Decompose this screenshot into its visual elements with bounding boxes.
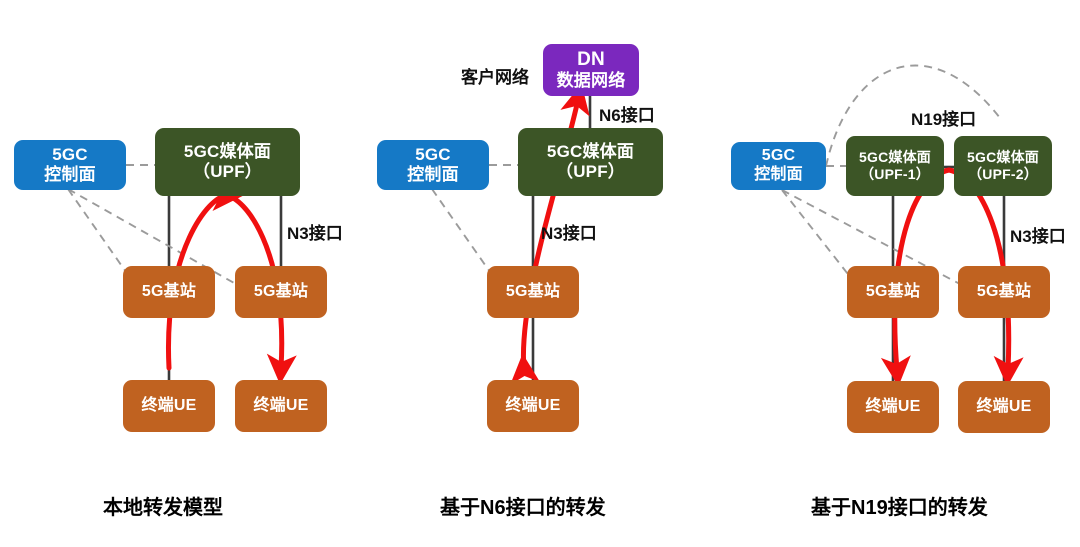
panel2-base-station[interactable]: 5G基站 (487, 266, 579, 318)
node-line-1: 终端UE (865, 398, 920, 417)
panel1-ue-left[interactable]: 终端UE (123, 380, 215, 432)
panel1-base-station-right[interactable]: 5G基站 (235, 266, 327, 318)
node-line-1: 5G基站 (254, 283, 308, 302)
panel1-base-station-left[interactable]: 5G基站 (123, 266, 215, 318)
panel2-ue[interactable]: 终端UE (487, 380, 579, 432)
panel2-customer-network-label: 客户网络 (461, 63, 529, 88)
node-line-1: 终端UE (141, 397, 196, 416)
panel1-control-plane-node[interactable]: 5GC 控制面 (14, 140, 126, 190)
panel2-caption: 基于N6接口的转发 (440, 491, 606, 520)
panel3-control-plane-node[interactable]: 5GC 控制面 (731, 142, 826, 190)
node-line-1: 5GC媒体面 (967, 149, 1039, 166)
panel3-base-station-right[interactable]: 5G基站 (958, 266, 1050, 318)
diagram-canvas: 5GC 控制面 5GC媒体面 （UPF） 5G基站 5G基站 终端UE 终端UE… (0, 0, 1080, 547)
panel3-n3-interface-label: N3接口 (1010, 222, 1066, 247)
node-line-1: 5G基站 (142, 283, 196, 302)
panel2-n3-interface-label: N3接口 (541, 219, 597, 244)
node-line-1: 终端UE (976, 398, 1031, 417)
node-line-1: 5GC (762, 147, 796, 166)
node-line-1: 5G基站 (977, 283, 1031, 302)
panel1-upf-node[interactable]: 5GC媒体面 （UPF） (155, 128, 300, 196)
node-line-1: DN (577, 49, 605, 71)
node-line-2: 控制面 (44, 165, 96, 185)
panel1-caption: 本地转发模型 (103, 491, 223, 520)
panel2-upf-node[interactable]: 5GC媒体面 （UPF） (518, 128, 663, 196)
node-line-2: 控制面 (754, 166, 803, 185)
node-line-1: 5GC媒体面 (184, 142, 271, 162)
node-line-1: 5GC (52, 145, 88, 165)
panel3-base-station-left[interactable]: 5G基站 (847, 266, 939, 318)
panel3-upf-1-node[interactable]: 5GC媒体面 （UPF-1） (846, 136, 944, 196)
panel1-ue-right[interactable]: 终端UE (235, 380, 327, 432)
node-line-2: 控制面 (407, 165, 459, 185)
panel1-n3-interface-label: N3接口 (287, 219, 343, 244)
node-line-1: 终端UE (253, 397, 308, 416)
panel3-upf-2-node[interactable]: 5GC媒体面 （UPF-2） (954, 136, 1052, 196)
node-line-2: （UPF） (556, 162, 625, 182)
node-line-2: （UPF-1） (860, 166, 930, 183)
panel2-n6-interface-label: N6接口 (599, 101, 655, 126)
panel3-ue-right[interactable]: 终端UE (958, 381, 1050, 433)
panel2-data-network-node[interactable]: DN 数据网络 (543, 44, 639, 96)
panel3-n19-interface-label: N19接口 (911, 105, 976, 130)
node-line-1: 5G基站 (506, 283, 560, 302)
node-line-2: （UPF） (193, 162, 262, 182)
node-line-1: 终端UE (505, 397, 560, 416)
panel3-caption: 基于N19接口的转发 (811, 491, 988, 520)
node-line-2: 数据网络 (557, 71, 626, 91)
node-line-1: 5G基站 (866, 283, 920, 302)
node-line-2: （UPF-2） (968, 166, 1038, 183)
panel2-control-plane-node[interactable]: 5GC 控制面 (377, 140, 489, 190)
node-line-1: 5GC媒体面 (547, 142, 634, 162)
node-line-1: 5GC (415, 145, 451, 165)
node-line-1: 5GC媒体面 (859, 149, 931, 166)
panel3-ue-left[interactable]: 终端UE (847, 381, 939, 433)
